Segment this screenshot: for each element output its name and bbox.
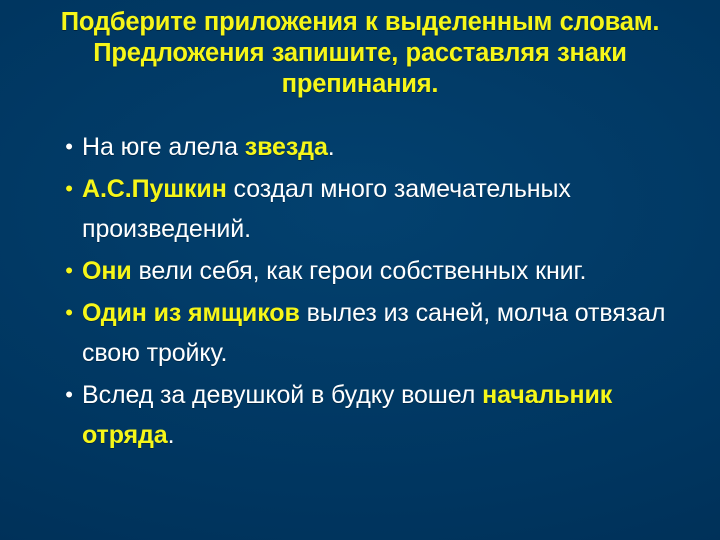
bullet-text: Один из ямщиков вылез из саней, молча от… (82, 293, 680, 373)
highlighted-phrase: Они (82, 257, 132, 285)
bullet-run: На юге алела (82, 133, 245, 161)
highlighted-phrase: звезда (245, 133, 328, 161)
bullet-run: . (328, 133, 335, 161)
bullet-item: •Один из ямщиков вылез из саней, молча о… (56, 293, 680, 373)
bullet-dot-icon: • (62, 375, 76, 415)
bullet-item: •А.С.Пушкин создал много замечательных п… (56, 169, 680, 249)
slide-title-text: Подберите приложения к выделенным словам… (12, 7, 708, 100)
bullet-run: вели себя, как герои собственных книг. (132, 257, 587, 285)
bullet-dot-icon: • (62, 127, 76, 167)
bullet-text: Они вели себя, как герои собственных кни… (82, 251, 680, 291)
slide-title: Подберите приложения к выделенным словам… (0, 7, 720, 100)
bullet-dot-icon: • (62, 293, 76, 333)
bullet-item: •Они вели себя, как герои собственных кн… (56, 251, 680, 291)
bullet-text: На юге алела звезда. (82, 127, 680, 167)
slide-bullet-list: •На юге алела звезда.•А.С.Пушкин создал … (56, 127, 680, 457)
highlighted-phrase: Один из ямщиков (82, 299, 300, 327)
bullet-run: . (168, 421, 175, 449)
highlighted-phrase: А.С.Пушкин (82, 175, 227, 203)
bullet-item: •Вслед за девушкой в будку вошел начальн… (56, 375, 680, 455)
bullet-text: Вслед за девушкой в будку вошел начальни… (82, 375, 680, 455)
bullet-run: Вслед за девушкой в будку вошел (82, 381, 482, 409)
slide-canvas: Подберите приложения к выделенным словам… (0, 0, 720, 540)
bullet-text: А.С.Пушкин создал много замечательных пр… (82, 169, 680, 249)
bullet-dot-icon: • (62, 251, 76, 291)
bullet-item: •На юге алела звезда. (56, 127, 680, 167)
bullet-dot-icon: • (62, 169, 76, 209)
